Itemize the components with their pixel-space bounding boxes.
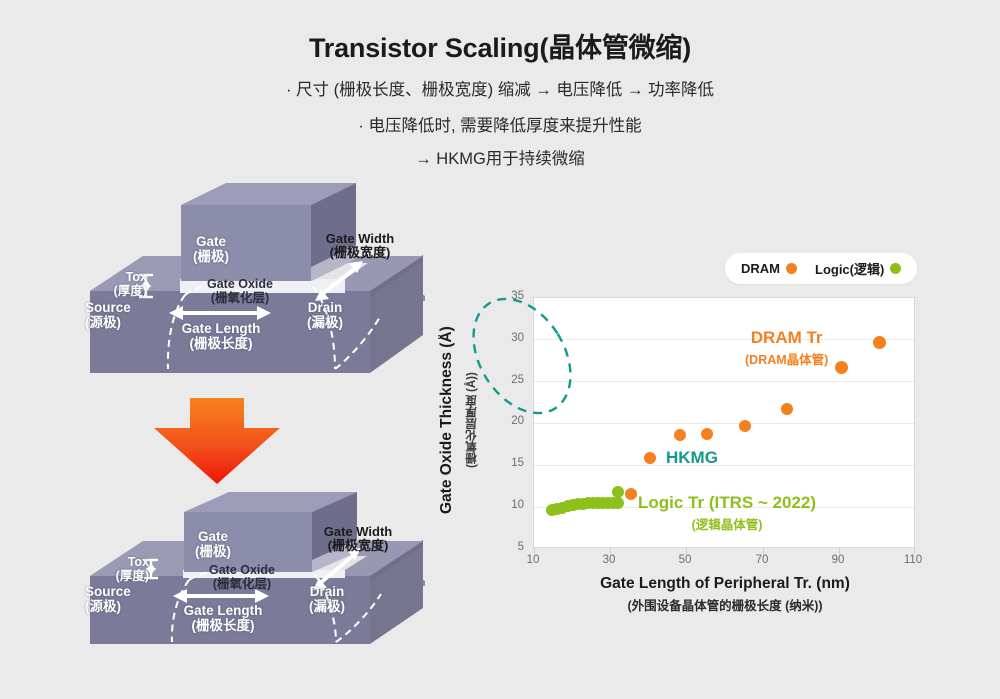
legend-label-dram: DRAM — [741, 261, 780, 276]
x-axis-title-cn: (外围设备晶体管的栅极长度 (纳米)) — [500, 595, 950, 614]
x-tick-30: 30 — [589, 554, 629, 566]
x-tick-70: 70 — [742, 554, 782, 566]
hkmg-ellipse — [452, 291, 592, 421]
data-point-dram — [835, 361, 848, 374]
annotation-dram-tr-label-cn: (DRAM晶体管) — [745, 349, 828, 368]
chart-legend: DRAM Logic(逻辑) — [725, 253, 917, 284]
subtitle-line-2: · 电压降低时, 需要降低厚度来提升性能 — [0, 112, 1000, 136]
x-tick-90: 90 — [818, 554, 858, 566]
data-point-dram — [873, 336, 886, 349]
annotation-logic-tr-label: Logic Tr (ITRS ~ 2022) — [638, 493, 816, 513]
data-point-dram — [644, 452, 656, 464]
data-point-dram — [674, 429, 686, 441]
transistor-3d-svg-bottom — [85, 492, 425, 667]
legend-label-logic: Logic(逻辑) — [815, 259, 884, 278]
annotation-hkmg: HKMG — [666, 448, 718, 468]
data-point-logic — [612, 486, 624, 498]
legend-item-logic: Logic(逻辑) — [815, 259, 901, 278]
x-tick-mark-110 — [914, 547, 915, 554]
scaling-down-arrow — [152, 396, 282, 491]
subtitle-line-3: → HKMG用于持续微缩 — [0, 145, 1000, 169]
data-point-dram — [739, 420, 751, 432]
x-tick-110: 110 — [893, 554, 933, 566]
transistor-diagram-after: Gate (栅极) Gate Oxide (栅氧化层) Gate Width (… — [85, 492, 425, 667]
x-tick-50: 50 — [665, 554, 705, 566]
transistor-3d-svg-top — [85, 183, 425, 398]
y-tick-15: 15 — [498, 457, 524, 469]
annotation-logic-tr-label-cn: (逻辑晶体管) — [638, 514, 816, 533]
subtitle-line-1: · 尺寸 (栅极长度、栅极宽度) 缩减 → 电压降低 → 功率降低 — [0, 76, 1000, 100]
transistor-diagram-before: Gate (栅极) Gate Oxide (栅氧化层) Gate Width (… — [85, 183, 425, 398]
legend-dot-logic — [890, 263, 901, 274]
x-tick-10: 10 — [513, 554, 553, 566]
x-tick-mark-70 — [763, 547, 764, 554]
x-tick-mark-10 — [534, 547, 535, 554]
x-tick-mark-50 — [686, 547, 687, 554]
annotation-logic-tr: Logic Tr (ITRS ~ 2022) (逻辑晶体管) — [638, 493, 816, 533]
data-point-dram — [701, 428, 713, 440]
annotation-dram-tr-label: DRAM Tr — [745, 328, 828, 348]
x-tick-mark-90 — [839, 547, 840, 554]
x-axis-title: Gate Length of Peripheral Tr. (nm) (外围设备… — [500, 575, 950, 614]
legend-dot-dram — [786, 263, 797, 274]
annotation-dram-tr: DRAM Tr (DRAM晶体管) — [745, 328, 828, 368]
data-point-logic — [612, 497, 624, 509]
gridline-20 — [534, 423, 914, 424]
x-tick-mark-30 — [610, 547, 611, 554]
y-tick-5: 5 — [498, 541, 524, 553]
scatter-chart: DRAM Logic(逻辑) Gate Oxide Thickness (Å) … — [440, 250, 1000, 650]
data-point-dram — [781, 403, 793, 415]
page-title: Transistor Scaling(晶体管微缩) — [0, 26, 1000, 65]
legend-item-dram: DRAM — [741, 261, 797, 276]
x-axis-title-main: Gate Length of Peripheral Tr. (nm) — [500, 575, 950, 593]
infographic-root: Transistor Scaling(晶体管微缩) · 尺寸 (栅极长度、栅极宽… — [0, 0, 1000, 699]
y-tick-10: 10 — [498, 499, 524, 511]
gridline-15 — [534, 465, 914, 466]
data-point-dram — [625, 488, 637, 500]
